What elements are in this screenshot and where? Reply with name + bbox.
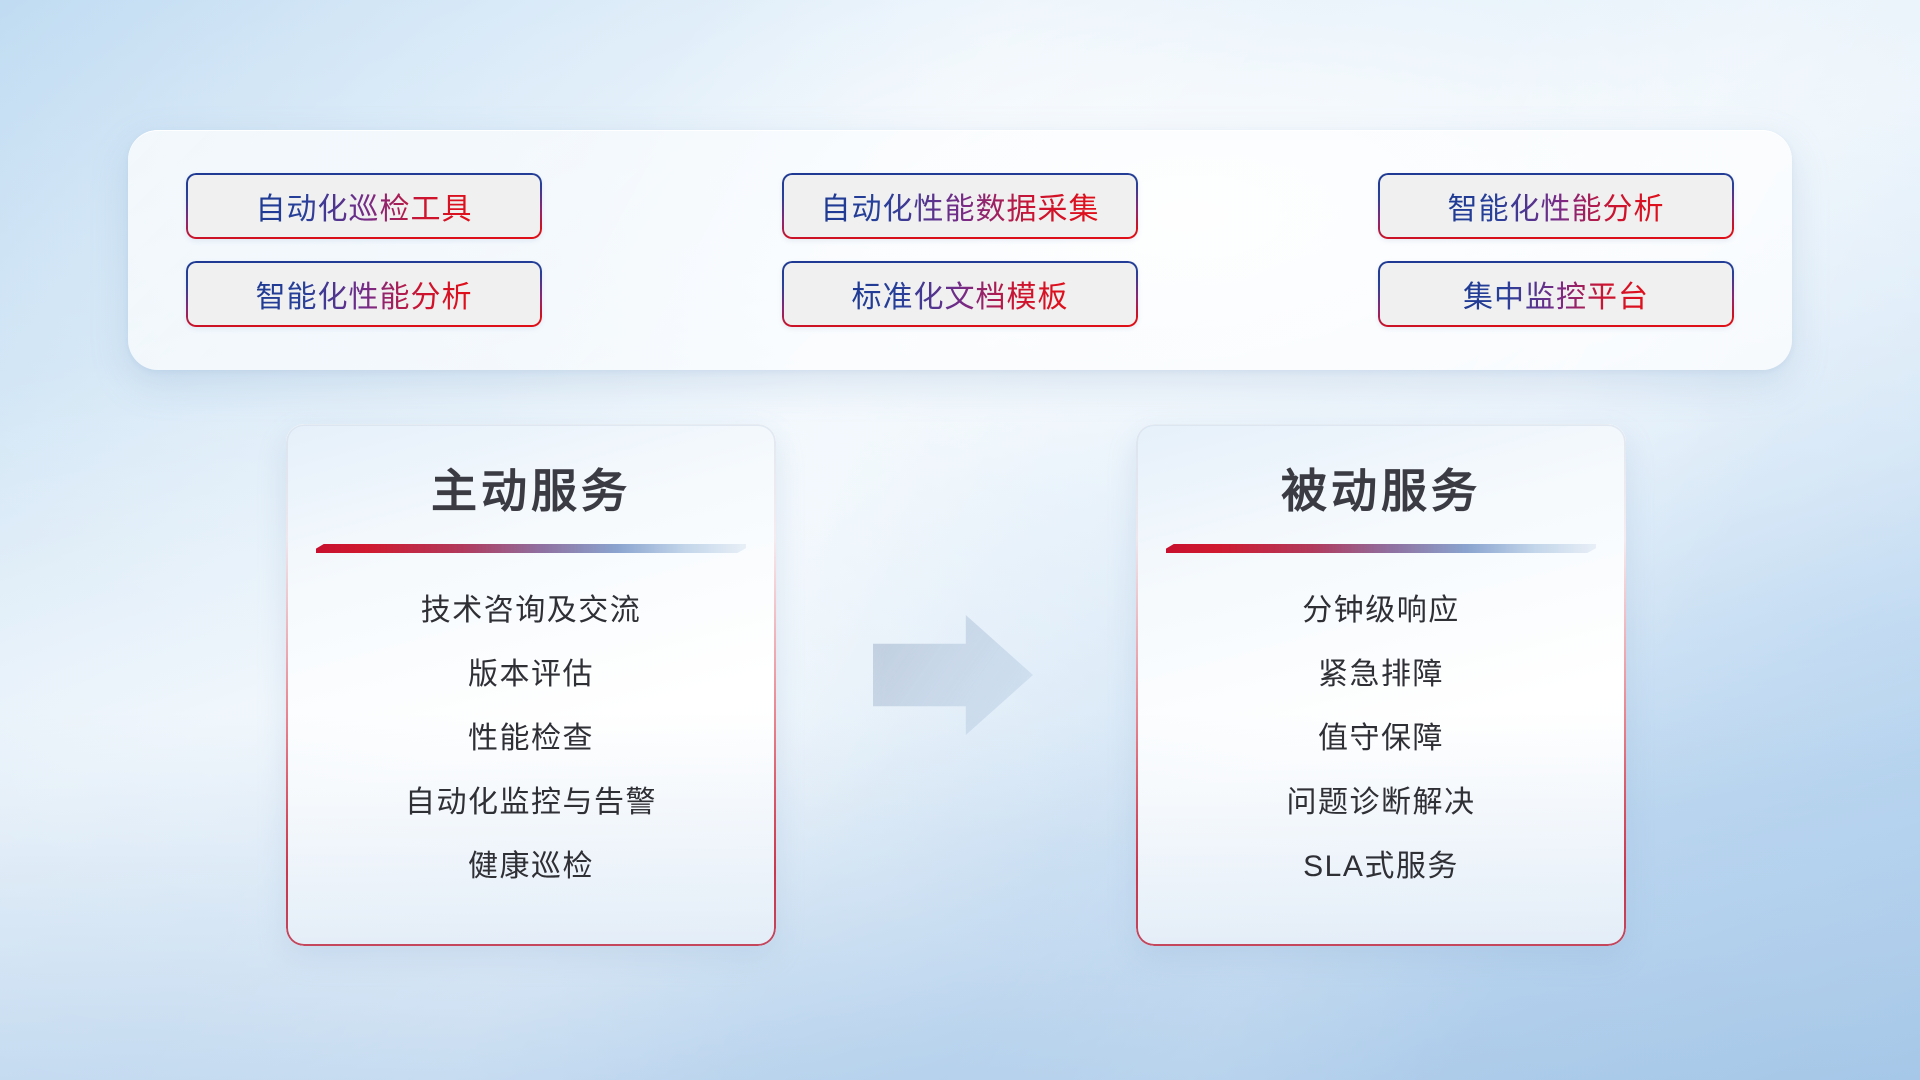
capability-tag-label: 自动化性能数据采集 bbox=[821, 184, 1100, 228]
service-item: 技术咨询及交流 bbox=[421, 593, 642, 629]
service-item: 问题诊断解决 bbox=[1287, 785, 1476, 821]
tag-row-1: 自动化巡检工具 自动化性能数据采集 智能化性能分析 bbox=[186, 173, 1734, 239]
capability-tag-label: 标准化文档模板 bbox=[852, 272, 1069, 316]
capability-tag-label: 自动化巡检工具 bbox=[256, 184, 473, 228]
capability-tag-label: 智能化性能分析 bbox=[1448, 184, 1665, 228]
service-card-reactive: 被动服务 分钟级响应 紧急排障 值守保障 问题诊断解决 SLA式服务 bbox=[1136, 424, 1626, 946]
service-item-list: 技术咨询及交流 版本评估 性能检查 自动化监控与告警 健康巡检 bbox=[316, 593, 746, 885]
card-title: 被动服务 bbox=[1281, 468, 1481, 514]
capability-tag[interactable]: 自动化巡检工具 bbox=[186, 173, 542, 239]
capability-tag-label: 集中监控平台 bbox=[1463, 272, 1649, 316]
service-item: 自动化监控与告警 bbox=[405, 785, 657, 821]
service-item-list: 分钟级响应 紧急排障 值守保障 问题诊断解决 SLA式服务 bbox=[1166, 593, 1596, 885]
capability-tag[interactable]: 自动化性能数据采集 bbox=[782, 173, 1138, 239]
card-title-divider bbox=[1166, 544, 1596, 553]
service-item: 版本评估 bbox=[468, 657, 594, 693]
capability-tag[interactable]: 智能化性能分析 bbox=[1378, 173, 1734, 239]
service-item: 分钟级响应 bbox=[1302, 593, 1460, 629]
capability-tags-panel: 自动化巡检工具 自动化性能数据采集 智能化性能分析 智能化性能分析 标准化文档模… bbox=[128, 130, 1792, 370]
capability-tag[interactable]: 标准化文档模板 bbox=[782, 261, 1138, 327]
slide-canvas: 自动化巡检工具 自动化性能数据采集 智能化性能分析 智能化性能分析 标准化文档模… bbox=[0, 0, 1920, 1080]
capability-tag[interactable]: 集中监控平台 bbox=[1378, 261, 1734, 327]
service-item: SLA式服务 bbox=[1303, 849, 1459, 885]
service-item: 值守保障 bbox=[1318, 721, 1444, 757]
right-arrow-icon bbox=[873, 615, 1033, 735]
service-card-proactive: 主动服务 技术咨询及交流 版本评估 性能检查 自动化监控与告警 健康巡检 bbox=[286, 424, 776, 946]
card-title-divider bbox=[316, 544, 746, 553]
service-item: 性能检查 bbox=[468, 721, 594, 757]
tag-row-2: 智能化性能分析 标准化文档模板 集中监控平台 bbox=[186, 261, 1734, 327]
capability-tag[interactable]: 智能化性能分析 bbox=[186, 261, 542, 327]
service-item: 紧急排障 bbox=[1318, 657, 1444, 693]
card-title: 主动服务 bbox=[431, 468, 631, 514]
service-item: 健康巡检 bbox=[468, 849, 594, 885]
capability-tag-label: 智能化性能分析 bbox=[256, 272, 473, 316]
